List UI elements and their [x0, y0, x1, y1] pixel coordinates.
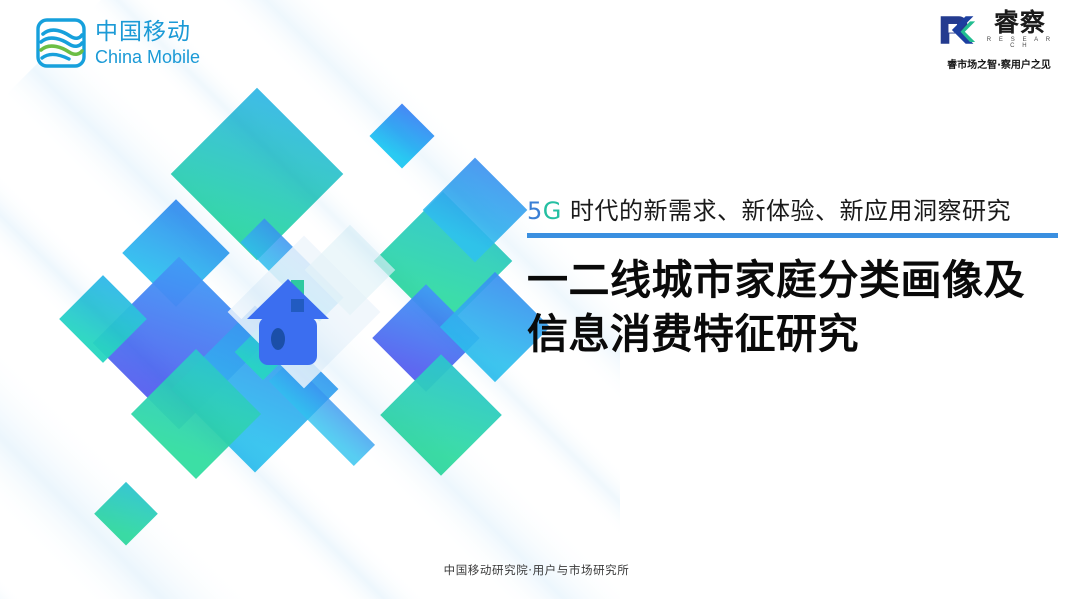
title-divider-rule: [527, 233, 1058, 238]
ruicha-name-cn: 睿察: [994, 10, 1046, 35]
page-title-line1: 一二线城市家庭分类画像及: [527, 253, 1061, 307]
house-icon: [247, 279, 329, 365]
ruicha-r-mark-icon: [939, 11, 977, 49]
subtitle-5: 5: [527, 197, 543, 225]
subtitle-g: G: [543, 197, 562, 225]
ruicha-research-logo: 睿察 R E S E A R C H 睿市场之智·察用户之见: [939, 10, 1059, 71]
china-mobile-name-en: China Mobile: [95, 48, 200, 66]
page-title: 一二线城市家庭分类画像及 信息消费特征研究: [527, 253, 1061, 361]
subtitle-rest: 时代的新需求、新体验、新应用洞察研究: [562, 197, 1011, 225]
footer-organization: 中国移动研究院·用户与市场研究所: [0, 562, 1073, 578]
ruicha-tagline: 睿市场之智·察用户之见: [939, 56, 1059, 71]
china-mobile-wordmark: 中国移动 China Mobile: [95, 21, 200, 66]
slide-cover: 中国移动 China Mobile 睿察 R E S E A R C H 睿市场…: [0, 0, 1073, 599]
ruicha-logo-row: 睿察 R E S E A R C H: [939, 10, 1059, 49]
china-mobile-name-cn: 中国移动: [95, 21, 200, 44]
ruicha-name-en: R E S E A R C H: [981, 37, 1059, 49]
ruicha-wordmark: 睿察 R E S E A R C H: [981, 10, 1059, 49]
china-mobile-logo: 中国移动 China Mobile: [36, 18, 200, 68]
china-mobile-mark-icon: [36, 18, 86, 68]
subtitle: 5G 时代的新需求、新体验、新应用洞察研究: [527, 196, 1061, 226]
title-block: 5G 时代的新需求、新体验、新应用洞察研究 一二线城市家庭分类画像及 信息消费特…: [527, 196, 1061, 361]
page-title-line2: 信息消费特征研究: [527, 307, 1061, 361]
